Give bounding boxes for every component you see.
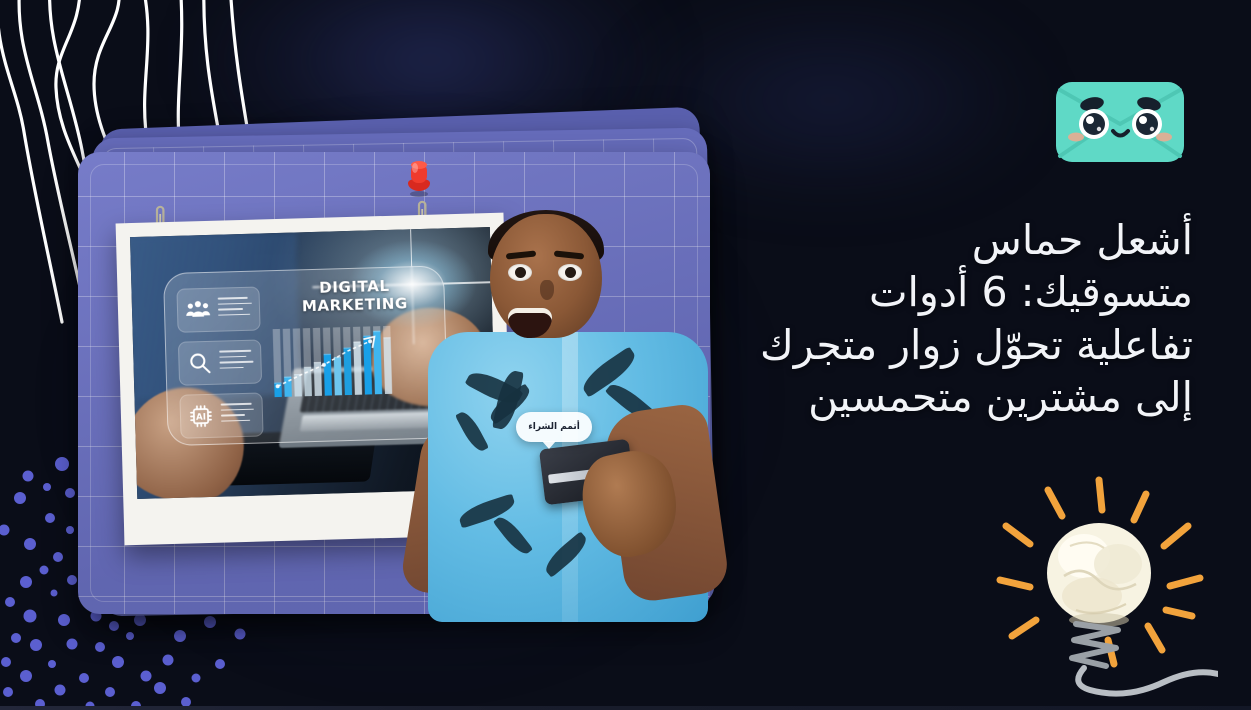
checkout-speech-bubble[interactable]: أتمم الشراء (516, 412, 592, 442)
headline-line-2: متسوقيك: 6 أدوات (673, 266, 1193, 318)
crumpled-paper-lightbulb (986, 468, 1218, 700)
hud-card-ai: AI (179, 392, 264, 438)
eye-right (558, 264, 582, 281)
hud-card-search (177, 340, 262, 386)
headline-line-1: أشعل حماس (673, 214, 1193, 266)
hud-overlay: AI DIGITAL MARKETING (163, 265, 449, 446)
hud-card-list: AI (176, 287, 264, 448)
headline: أشعل حماس متسوقيك: 6 أدوات تفاعلية تحوّل… (673, 214, 1193, 424)
hud-title-line2: MARKETING (277, 294, 434, 316)
speech-bubble-text: أتمم الشراء (528, 422, 580, 432)
red-pushpin-icon (402, 156, 436, 198)
eye-left (508, 264, 532, 281)
headline-line-4: إلى مشترين متحمسين (673, 371, 1193, 423)
paper-ball (1047, 523, 1151, 627)
trend-arrow-graphic (272, 332, 407, 394)
ai-chip-icon: AI (187, 403, 214, 430)
envelope-mascot-icon[interactable] (1054, 80, 1186, 164)
people-group-icon (184, 297, 211, 324)
svg-text:AI: AI (195, 413, 205, 423)
headline-line-3: تفاعلية تحوّل زوار متجرك (673, 319, 1193, 371)
hud-title: DIGITAL MARKETING (276, 277, 433, 317)
search-magnifier-icon (186, 350, 213, 377)
hud-card-audience (176, 287, 261, 333)
bottom-edge-strip (0, 706, 1251, 710)
poster-canvas: AI DIGITAL MARKETING (0, 0, 1251, 710)
